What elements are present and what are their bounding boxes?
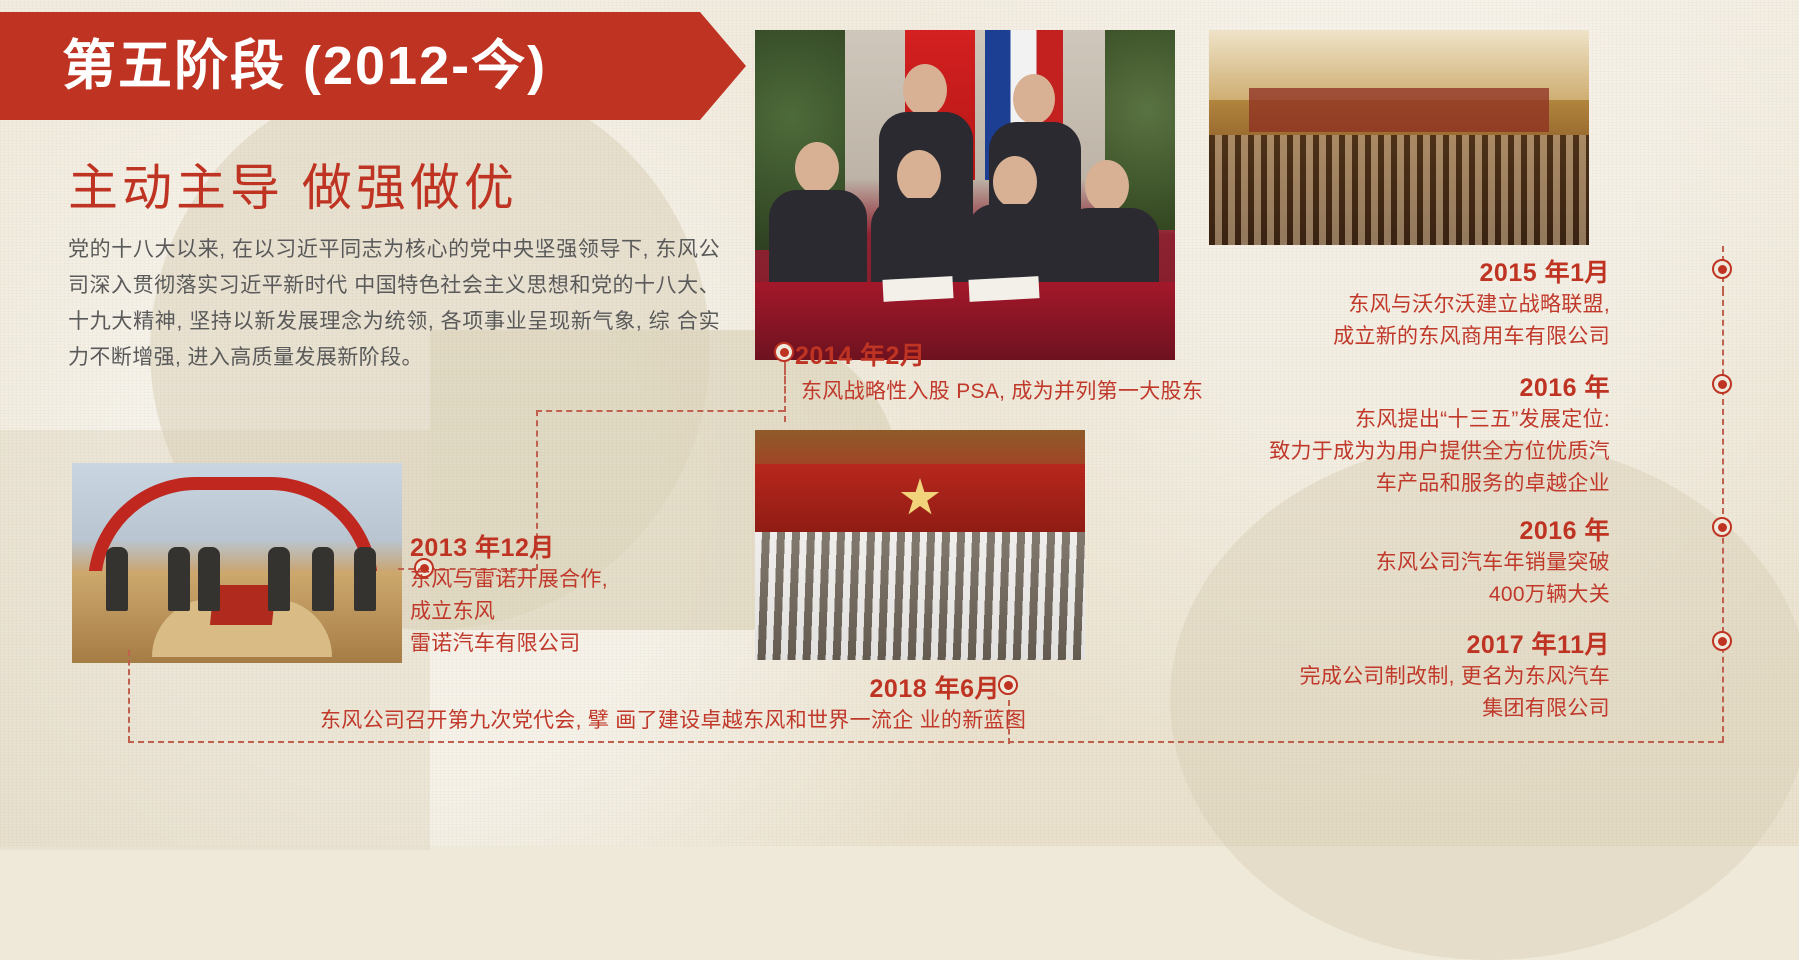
timeline-date-2015: 2015 年1月 [1150,253,1610,289]
timeline-desc-2017: 完成公司制改制, 更名为东风汽车 集团有限公司 [1150,661,1610,725]
photo-party-congress [755,430,1085,660]
timeline-desc-line: 雷诺汽车有限公司 [410,628,730,660]
timeline-event-2016-sales: 2016 年 东风公司汽车年销量突破 400万辆大关 [1150,511,1610,611]
timeline-desc-line: 东风与雷诺开展合作, [410,564,730,596]
timeline-dot-2016b [1712,517,1732,537]
timeline-desc-line: 东风提出“十三五”发展定位: [1150,404,1610,436]
intro-paragraph: 党的十八大以来, 在以习近平同志为核心的党中央坚强领导下, 东风公司深入贯彻落实… [68,232,720,376]
banner-arrow-shape [700,12,746,120]
timeline-desc-2015: 东风与沃尔沃建立战略联盟, 成立新的东风商用车有限公司 [1150,289,1610,353]
timeline-desc-2016-plan: 东风提出“十三五”发展定位: 致力于成为为用户提供全方位优质汽 车产品和服务的卓… [1150,404,1610,500]
timeline-desc-line: 东风与沃尔沃建立战略联盟, [1150,289,1610,321]
timeline-desc-line: 完成公司制改制, 更名为东风汽车 [1150,661,1610,693]
timeline-event-2016-plan: 2016 年 东风提出“十三五”发展定位: 致力于成为为用户提供全方位优质汽 车… [1150,368,1610,500]
timeline-date-2017: 2017 年11月 [1150,625,1610,661]
timeline-desc-line: 集团有限公司 [1150,693,1610,725]
photo-psa-signing [755,30,1175,360]
timeline-dot-2014 [774,342,794,362]
timeline-spine-right [1722,290,1724,742]
timeline-date-2016-sales: 2016 年 [1150,511,1610,547]
timeline-date-2016-plan: 2016 年 [1150,368,1610,404]
intro-text: 党的十八大以来, 在以习近平同志为核心的党中央坚强领导下, 东风公司深入贯彻落实… [68,232,720,376]
timeline-date-2013: 2013 年12月 [410,528,730,564]
timeline-dot-2018 [998,675,1018,695]
photo-renault-groundbreaking [72,463,402,663]
timeline-desc-line: 致力于成为为用户提供全方位优质汽 [1150,436,1610,468]
timeline-desc-line: 东风公司汽车年销量突破 [1150,547,1610,579]
infographic-page: 第五阶段 (2012-今) 主动主导 做强做优 党的十八大以来, 在以习近平同志… [0,0,1799,846]
timeline-dot-2015 [1712,259,1732,279]
timeline-desc-line: 车产品和服务的卓越企业 [1150,468,1610,500]
timeline-desc-line: 成立东风 [410,596,730,628]
page-title: 第五阶段 (2012-今) [62,39,547,93]
timeline-event-2017: 2017 年11月 完成公司制改制, 更名为东风汽车 集团有限公司 [1150,625,1610,725]
timeline-date-2018: 2018 年6月 [320,669,1000,705]
timeline-riser-2014-lower [784,366,786,422]
timeline-connector-upper-left [536,410,784,412]
timeline-dot-2017 [1712,631,1732,651]
subtitle: 主动主导 做强做优 [68,148,518,220]
timeline-desc-2018: 东风公司召开第九次党代会, 擘 画了建设卓越东风和世界一流企 业的新蓝图 [320,705,1000,737]
timeline-connector-bottom [128,741,1724,743]
timeline-desc-line: 成立新的东风商用车有限公司 [1150,321,1610,353]
timeline-event-2018: 2018 年6月 东风公司召开第九次党代会, 擘 画了建设卓越东风和世界一流企 … [320,669,1000,737]
photo-conference-hall [1209,30,1589,245]
timeline-event-2013: 2013 年12月 东风与雷诺开展合作, 成立东风 雷诺汽车有限公司 [410,528,730,660]
timeline-desc-line: 东风公司召开第九次党代会, 擘 画了建设卓越东风和世界一流企 业的新蓝图 [320,705,1000,737]
timeline-spine-left [128,650,130,742]
timeline-desc-line: 400万辆大关 [1150,579,1610,611]
timeline-event-2015: 2015 年1月 东风与沃尔沃建立战略联盟, 成立新的东风商用车有限公司 [1150,253,1610,353]
timeline-desc-2013: 东风与雷诺开展合作, 成立东风 雷诺汽车有限公司 [410,564,730,660]
stage-banner: 第五阶段 (2012-今) [0,12,700,120]
timeline-dot-2016a [1712,374,1732,394]
timeline-desc-2016-sales: 东风公司汽车年销量突破 400万辆大关 [1150,547,1610,611]
